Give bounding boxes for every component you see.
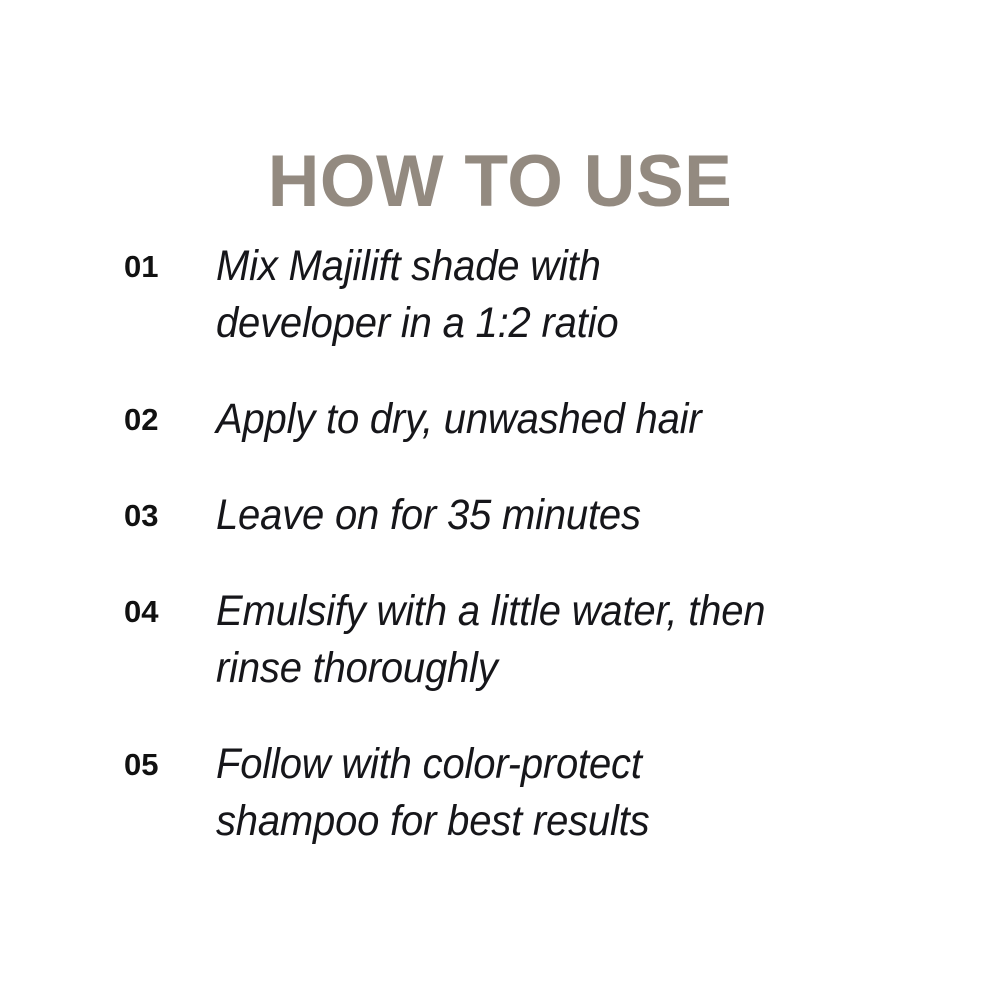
step-number: 05 xyxy=(124,736,216,793)
step-text: Apply to dry, unwashed hair xyxy=(216,391,874,448)
step-text: Leave on for 35 minutes xyxy=(216,487,874,544)
step-number: 03 xyxy=(124,487,216,544)
list-item: 01 Mix Majilift shade with developer in … xyxy=(124,238,924,352)
step-number: 01 xyxy=(124,238,216,295)
step-number: 02 xyxy=(124,391,216,448)
page-title: HOW TO USE xyxy=(268,145,733,218)
list-item: 05 Follow with color-protect shampoo for… xyxy=(124,736,924,850)
steps-list: 01 Mix Majilift shade with developer in … xyxy=(124,238,924,850)
step-text: Emulsify with a little water, then rinse… xyxy=(216,583,874,697)
list-item: 03 Leave on for 35 minutes xyxy=(124,487,924,544)
list-item: 02 Apply to dry, unwashed hair xyxy=(124,391,924,448)
how-to-use-card: HOW TO USE 01 Mix Majilift shade with de… xyxy=(0,0,1000,1000)
step-number: 04 xyxy=(124,583,216,640)
step-text: Follow with color-protect shampoo for be… xyxy=(216,736,874,850)
step-text: Mix Majilift shade with developer in a 1… xyxy=(216,238,874,352)
list-item: 04 Emulsify with a little water, then ri… xyxy=(124,583,924,697)
